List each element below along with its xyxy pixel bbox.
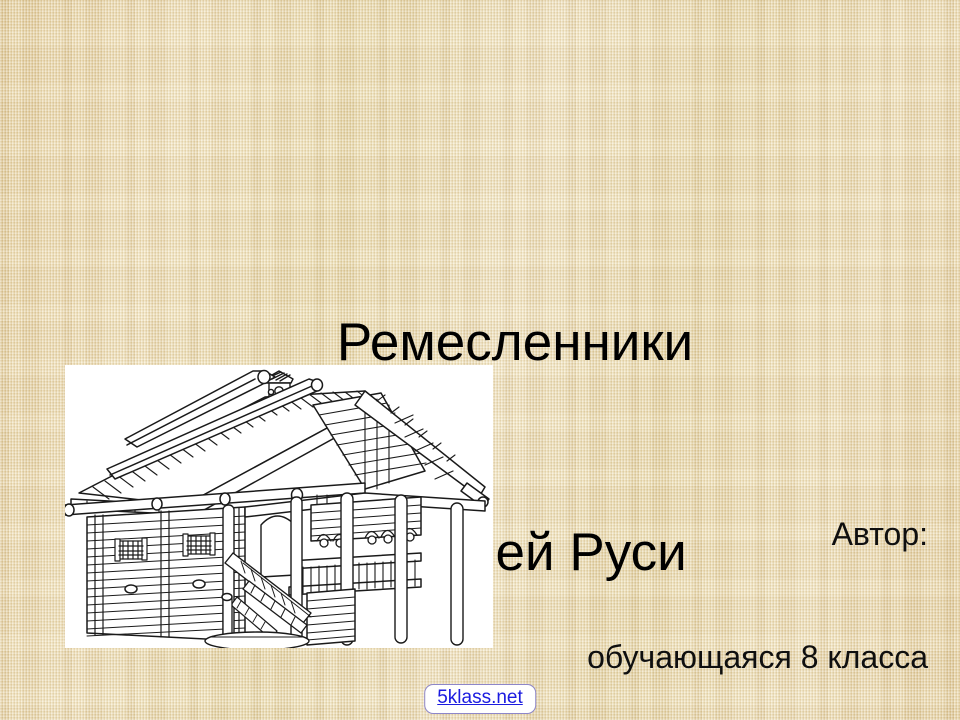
window-left xyxy=(115,538,147,561)
watermark-url[interactable]: 5klass.net xyxy=(437,687,523,708)
window-right xyxy=(183,533,215,556)
author-class: обучающаяся 8 класса xyxy=(587,637,928,678)
watermark-link-box[interactable]: 5klass.net xyxy=(424,684,536,714)
izba-illustration xyxy=(65,365,493,648)
presentation-slide: Ремесленники Древней Руси xyxy=(0,0,960,720)
author-label: Автор: xyxy=(587,514,928,555)
author-block: Автор: обучающаяся 8 класса МОУ ООШ №35 … xyxy=(587,432,928,720)
izba-drawing xyxy=(65,365,493,648)
